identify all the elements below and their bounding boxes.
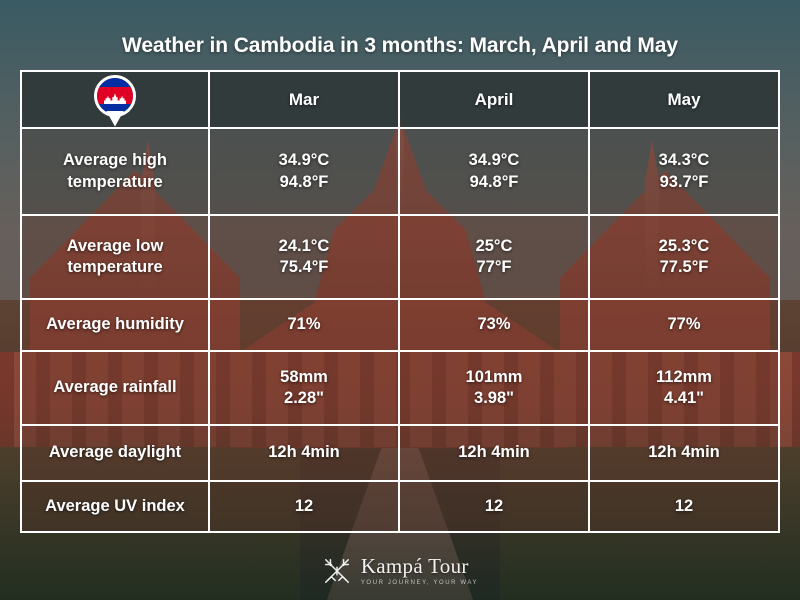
pin-head xyxy=(94,75,136,117)
cell-humidity-may: 77% xyxy=(590,300,778,350)
cell-rainfall-mar: 58mm 2.28" xyxy=(210,352,400,424)
column-header-may: May xyxy=(590,72,778,127)
cambodia-flag-map-pin-icon xyxy=(94,75,136,125)
column-header-april: April xyxy=(400,72,590,127)
weather-table: Mar April May Average high temperature 3… xyxy=(20,70,780,533)
cell-high-temperature-may: 34.3°C 93.7°F xyxy=(590,129,778,214)
row-label-average-humidity: Average humidity xyxy=(22,300,210,350)
table-row: Average daylight 12h 4min 12h 4min 12h 4… xyxy=(22,426,778,482)
table-row: Average UV index 12 12 12 xyxy=(22,482,778,531)
flag-band-blue-top xyxy=(97,78,133,87)
cell-uv-index-mar: 12 xyxy=(210,482,400,531)
logo-text-block: Kampá Tour YOUR JOURNEY, YOUR WAY xyxy=(361,556,478,586)
cell-low-temperature-april: 25°C 77°F xyxy=(400,216,590,298)
cell-uv-index-may: 12 xyxy=(590,482,778,531)
cell-uv-index-april: 12 xyxy=(400,482,590,531)
table-row: Average high temperature 34.9°C 94.8°F 3… xyxy=(22,129,778,216)
cell-low-temperature-may: 25.3°C 77.5°F xyxy=(590,216,778,298)
row-label-average-daylight: Average daylight xyxy=(22,426,210,480)
cell-rainfall-may: 112mm 4.41" xyxy=(590,352,778,424)
row-label-average-low-temperature: Average low temperature xyxy=(22,216,210,298)
table-row: Average rainfall 58mm 2.28" 101mm 3.98" … xyxy=(22,352,778,426)
table-row: Average low temperature 24.1°C 75.4°F 25… xyxy=(22,216,778,300)
cell-high-temperature-april: 34.9°C 94.8°F xyxy=(400,129,590,214)
table-row: Average humidity 71% 73% 77% xyxy=(22,300,778,352)
cell-daylight-may: 12h 4min xyxy=(590,426,778,480)
column-header-mar: Mar xyxy=(210,72,400,127)
cell-humidity-mar: 71% xyxy=(210,300,400,350)
cell-low-temperature-mar: 24.1°C 75.4°F xyxy=(210,216,400,298)
brand-name: Kampá Tour xyxy=(361,556,469,577)
page-title: Weather in Cambodia in 3 months: March, … xyxy=(0,34,800,58)
row-label-average-rainfall: Average rainfall xyxy=(22,352,210,424)
cell-daylight-april: 12h 4min xyxy=(400,426,590,480)
pin-tip xyxy=(106,111,124,127)
kampa-x-monogram-icon xyxy=(322,556,352,586)
header-flag-cell xyxy=(22,72,210,127)
row-label-average-high-temperature: Average high temperature xyxy=(22,129,210,214)
cell-high-temperature-mar: 34.9°C 94.8°F xyxy=(210,129,400,214)
table-header-row: Mar April May xyxy=(22,72,778,129)
footer-logo: Kampá Tour YOUR JOURNEY, YOUR WAY xyxy=(0,556,800,586)
infographic-stage: Weather in Cambodia in 3 months: March, … xyxy=(0,0,800,600)
row-label-average-uv-index: Average UV index xyxy=(22,482,210,531)
cell-daylight-mar: 12h 4min xyxy=(210,426,400,480)
brand-tagline: YOUR JOURNEY, YOUR WAY xyxy=(361,580,478,586)
cell-rainfall-april: 101mm 3.98" xyxy=(400,352,590,424)
cell-humidity-april: 73% xyxy=(400,300,590,350)
